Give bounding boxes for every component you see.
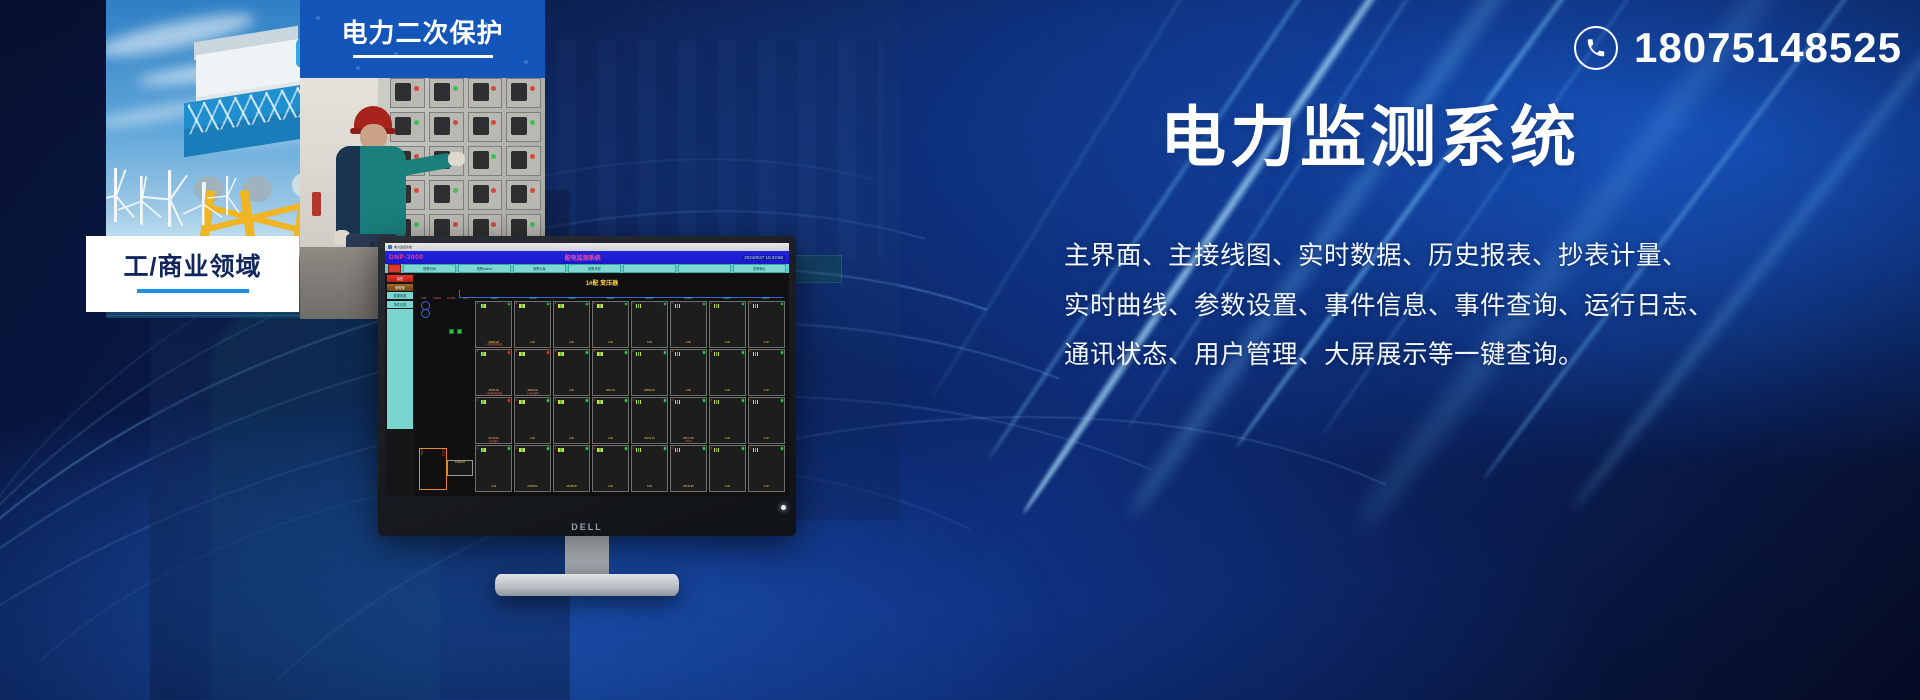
feeder-cell[interactable]: 20.00 — [670, 349, 707, 396]
status-led — [508, 351, 510, 353]
diagram-measurement-panel: P0.0 Q0.0 U0.0 I0.0 — [419, 448, 447, 490]
monitor-brand-logo: DELL — [378, 522, 796, 532]
card-white-underline — [137, 289, 249, 293]
single-line-diagram: TM1 AA101 AC101 — [417, 299, 473, 492]
feeder-cell[interactable]: 40.00 — [709, 445, 746, 492]
feeder-cell-index: 1 — [672, 302, 673, 305]
feeder-cell-value: 28500.46 — [633, 389, 666, 392]
scada-window-title: 电力监控系统 — [394, 245, 412, 249]
card-white-label: 工/商业领域 — [124, 255, 262, 280]
scada-timestamp: 2024/8/27 10:43:56 — [742, 255, 785, 260]
feeder-cell-index: 1 — [555, 302, 556, 305]
phase-bars — [481, 400, 486, 404]
scada-body: 高压 配电室 数据报表 事件记录 1#配 变压器 — [385, 273, 789, 496]
page-title: 电力监测系统 — [1160, 104, 1580, 170]
phase-bars — [636, 448, 641, 452]
feeder-cell-value: 0.00 — [750, 437, 783, 440]
feeder-cell-value: 26738.92 — [555, 485, 588, 488]
feeder-cell[interactable]: 10.00 — [670, 301, 707, 348]
feeder-cell[interactable]: 10.00 — [592, 301, 629, 348]
feeder-cell-index: 4 — [633, 447, 634, 450]
feeder-cell-index: 4 — [594, 447, 595, 450]
status-led — [742, 351, 744, 353]
status-led — [664, 351, 666, 353]
feeder-cell-index: 3 — [555, 399, 556, 402]
status-led — [742, 447, 744, 449]
scada-sidebar[interactable]: 高压 配电室 数据报表 事件记录 — [385, 273, 415, 496]
app-icon — [388, 245, 392, 249]
toolbar-item-blank-1[interactable] — [623, 264, 676, 273]
feeder-cell-value: 0.00 — [672, 341, 705, 344]
status-led — [625, 399, 627, 401]
feeder-cell-index: 2 — [633, 350, 634, 353]
feeder-column-header: AA204 — [708, 297, 747, 300]
phase-bars — [597, 400, 602, 404]
feeder-cell-index: 3 — [710, 399, 711, 402]
feeder-label-ac101: AC101 — [447, 296, 456, 300]
phase-bars — [597, 352, 602, 356]
feeder-cell[interactable]: 427538.10 — [514, 445, 551, 492]
scada-brand: DNP-3000 — [389, 254, 423, 261]
feeder-cell-value: 2607.20 — [594, 389, 627, 392]
phase-bars — [675, 400, 680, 404]
feeder-cell-index: 1 — [749, 302, 750, 305]
feeder-column-header: AA103 — [553, 297, 592, 300]
phase-bars — [481, 448, 486, 452]
description-line-1: 主界面、主接线图、实时数据、历史报表、抄表计量、 — [1064, 240, 1920, 273]
feeder-cell-index: 1 — [477, 302, 478, 305]
phase-bars — [636, 352, 641, 356]
feeder-cell-index: 2 — [672, 350, 673, 353]
feeder-cell-note: 小电流接地 — [516, 391, 549, 395]
phase-bars — [675, 304, 680, 308]
feeder-cell-index: 2 — [477, 350, 478, 353]
feeder-cell-index: 3 — [672, 399, 673, 402]
feeder-cell-value: 0.00 — [594, 437, 627, 440]
feeder-cell-value: 0.00 — [555, 389, 588, 392]
scada-toolbar[interactable]: 报警时间 报警station 报警对象 报警类型 报警确认 — [385, 264, 789, 273]
fire-extinguisher-icon — [312, 192, 321, 216]
sidebar-filler — [387, 309, 413, 429]
feeder-cell[interactable]: 30.00 — [592, 397, 629, 444]
feeder-cell-index: 2 — [516, 350, 517, 353]
feeder-cell-index: 2 — [749, 350, 750, 353]
phase-bars — [597, 448, 602, 452]
status-led — [586, 351, 588, 353]
phase-bars — [519, 352, 524, 356]
phase-bars — [558, 304, 563, 308]
diagram-title: 1#配 变压器 — [417, 278, 787, 287]
feeder-cell-value: 0.00 — [750, 341, 783, 344]
status-led — [742, 303, 744, 305]
status-led — [664, 447, 666, 449]
feeder-cell-index: 3 — [633, 399, 634, 402]
feeder-cell[interactable]: 30.00 — [553, 397, 590, 444]
status-led — [508, 303, 510, 305]
status-led — [664, 303, 666, 305]
feeder-cell-note: 小电流接地选线 — [477, 342, 510, 346]
phase-bars — [519, 304, 524, 308]
feeder-cell-index: 1 — [633, 302, 634, 305]
feeder-cell[interactable]: 40.00 — [631, 445, 668, 492]
phase-bars — [714, 304, 719, 308]
feeder-cell[interactable]: 232962.40小电流接地 — [514, 349, 551, 396]
status-led — [664, 399, 666, 401]
phase-bars — [481, 352, 486, 356]
feeder-cell-value: 0.00 — [750, 389, 783, 392]
feeder-cell-value: 0.00 — [555, 341, 588, 344]
phone-number: 18075148525 — [1634, 27, 1902, 69]
feeder-cell[interactable]: 326271.41 — [631, 397, 668, 444]
feeder-cell-value: 25739.85 — [672, 485, 705, 488]
phase-bars — [558, 448, 563, 452]
phase-bars — [675, 352, 680, 356]
feeder-cell[interactable]: 235763.26小电流接地选线 — [475, 349, 512, 396]
monitor-screen[interactable]: 电力监控系统 DNP-3000 配电监测系统 2024/8/27 10:43:5… — [385, 243, 789, 496]
feeder-cell[interactable]: 228500.46 — [631, 349, 668, 396]
monitor-stand-neck — [565, 534, 609, 578]
feeder-cell-value: 0.00 — [516, 341, 549, 344]
card-power-secondary-protection[interactable]: 电力二次保护 — [300, 0, 545, 78]
toolbar-item-alarm-object[interactable]: 报警对象 — [513, 264, 566, 273]
feature-description: 主界面、主接线图、实时数据、历史报表、抄表计量、 实时曲线、参数设置、事件信息、… — [1064, 240, 1920, 389]
status-led — [508, 447, 510, 449]
card-industrial-commercial[interactable]: 工/商业领域 — [86, 236, 299, 312]
feeder-column-header: AA104 — [591, 297, 630, 300]
sidebar-item-data-report[interactable]: 数据报表 — [387, 292, 413, 299]
feeder-cell-value: 27538.10 — [516, 485, 549, 488]
feeder-cell-value: 0.00 — [633, 485, 666, 488]
feeder-cell[interactable]: 40.00 — [475, 445, 512, 492]
feeder-cell-index: 2 — [710, 350, 711, 353]
feeder-label-aa101: AA101 — [433, 296, 441, 300]
feeder-cell[interactable]: 327179.61过流保护 — [475, 397, 512, 444]
scada-system-name: 配电监测系统 — [565, 253, 601, 262]
feeder-cell[interactable]: 30.00 — [709, 397, 746, 444]
phase-bars — [519, 400, 524, 404]
alarm-stop-button[interactable] — [388, 264, 401, 273]
sidebar-item-distribution-room[interactable]: 配电室 — [387, 284, 413, 291]
sidebar-item-high-voltage[interactable]: 高压 — [387, 275, 413, 282]
status-led — [703, 447, 705, 449]
feeder-cell-index: 4 — [555, 447, 556, 450]
feeder-cell[interactable]: 30.00 — [514, 397, 551, 444]
scada-application: 电力监控系统 DNP-3000 配电监测系统 2024/8/27 10:43:5… — [385, 243, 789, 496]
description-line-3: 通讯状态、用户管理、大屏展示等一键查询。 — [1064, 339, 1920, 372]
status-led — [781, 399, 783, 401]
feeder-cell[interactable]: 425739.85 — [670, 445, 707, 492]
status-led — [586, 303, 588, 305]
feeder-cell-value: 0.00 — [477, 485, 510, 488]
toolbar-item-blank-2[interactable] — [678, 264, 731, 273]
feeder-label-tm1: TM1 — [421, 296, 427, 300]
status-led — [781, 351, 783, 353]
feeder-cell-index: 1 — [710, 302, 711, 305]
feeder-cell[interactable]: 10.00 — [748, 301, 785, 348]
status-led — [547, 303, 549, 305]
feeder-cell[interactable]: 40.00 — [748, 445, 785, 492]
phase-bars — [675, 448, 680, 452]
feeder-cell[interactable]: 326771.55218.8 — [670, 397, 707, 444]
feeder-column-header: AA101 — [475, 297, 514, 300]
feeder-cell-index: 3 — [477, 399, 478, 402]
feeder-cell[interactable]: 20.00 — [553, 349, 590, 396]
feeder-cell[interactable]: 30.00 — [748, 397, 785, 444]
toolbar-item-alarm-ack[interactable]: 报警确认 — [733, 264, 786, 273]
status-led — [508, 399, 510, 401]
phase-bars — [558, 352, 563, 356]
monitor-mockup: 电力监控系统 DNP-3000 配电监测系统 2024/8/27 10:43:5… — [378, 236, 796, 536]
phase-bars — [753, 448, 758, 452]
status-led — [703, 351, 705, 353]
phase-bars — [714, 448, 719, 452]
feeder-cell-note: 218.8 — [672, 440, 705, 443]
feeder-cell-index: 1 — [594, 302, 595, 305]
feeder-cell-value: 0.00 — [750, 485, 783, 488]
sidebar-item-event-log[interactable]: 事件记录 — [387, 301, 413, 308]
monitor-bezel: 电力监控系统 DNP-3000 配电监测系统 2024/8/27 10:43:5… — [378, 236, 796, 536]
status-led — [625, 303, 627, 305]
phone-icon — [1574, 26, 1618, 70]
phase-bars — [481, 304, 486, 308]
feeder-cell-value: 0.00 — [555, 437, 588, 440]
feeder-cell-index: 3 — [594, 399, 595, 402]
feeder-cell-note: 小电流接地选线 — [477, 391, 510, 395]
feeder-cell-index: 4 — [749, 447, 750, 450]
diagram-meter-box: 12620.91 — [447, 460, 473, 476]
description-line-2: 实时曲线、参数设置、事件信息、事件查询、运行日志、 — [1064, 290, 1920, 323]
phase-bars — [519, 448, 524, 452]
feeder-cell-value: 0.00 — [672, 389, 705, 392]
feeder-cell-index: 3 — [749, 399, 750, 402]
feeder-cell[interactable]: 10.00 — [631, 301, 668, 348]
photo-collage: 电力二次保护 工/商业领域 电力监控系统 D — [0, 0, 980, 700]
scada-window-titlebar: 电力监控系统 — [385, 243, 789, 251]
feeder-cell-index: 1 — [516, 302, 517, 305]
feeder-column-header: AA102 — [514, 297, 553, 300]
phase-bars — [753, 352, 758, 356]
right-content: 18075148525 电力监测系统 主界面、主接线图、实时数据、历史报表、抄表… — [1060, 0, 1920, 700]
status-led — [586, 399, 588, 401]
feeder-cell-value: 0.00 — [711, 437, 744, 440]
feeder-cell[interactable]: 10.00 — [709, 301, 746, 348]
feeder-cell[interactable]: 152586.48小电流接地选线 — [475, 301, 512, 348]
feeder-cell[interactable]: 20.00 — [709, 349, 746, 396]
feeder-cell[interactable]: 426738.92 — [553, 445, 590, 492]
phase-bars — [753, 304, 758, 308]
feeder-cell-value: 0.00 — [594, 485, 627, 488]
feeder-cell-index: 3 — [516, 399, 517, 402]
feeder-cell[interactable]: 10.00 — [514, 301, 551, 348]
phase-bars — [636, 304, 641, 308]
feeder-cell-value: 0.00 — [711, 389, 744, 392]
feeder-column-header: AA203 — [669, 297, 708, 300]
phase-bars — [636, 400, 641, 404]
status-led — [781, 447, 783, 449]
status-led — [547, 351, 549, 353]
feeder-cell-index: 2 — [594, 350, 595, 353]
status-led — [625, 351, 627, 353]
scada-diagram-area: 1#配 变压器 TM1 AA101 — [415, 273, 789, 496]
phase-bars — [558, 400, 563, 404]
contact-phone[interactable]: 18075148525 — [1574, 26, 1902, 70]
feeder-cell-index: 4 — [672, 447, 673, 450]
toolbar-item-alarm-type[interactable]: 报警类型 — [568, 264, 621, 273]
status-led — [781, 303, 783, 305]
feeder-cell-grid[interactable]: AA101AA102AA103AA104AA105AA203AA204AA205… — [475, 301, 785, 492]
monitor-stand-base — [495, 574, 679, 596]
feeder-cell-note: 过流保护 — [477, 439, 510, 443]
feeder-column-header: AA205 — [746, 297, 785, 300]
feeder-label-aa1: AA1 — [463, 296, 468, 300]
feeder-cell-index: 4 — [516, 447, 517, 450]
phase-bars — [597, 304, 602, 308]
feeder-cell-index: 4 — [477, 447, 478, 450]
status-led — [586, 447, 588, 449]
status-led — [547, 447, 549, 449]
feeder-cell[interactable]: 20.00 — [748, 349, 785, 396]
toolbar-item-alarm-time[interactable]: 报警时间 — [403, 264, 456, 273]
toolbar-item-alarm-station[interactable]: 报警station — [458, 264, 511, 273]
status-led — [547, 399, 549, 401]
feeder-cell[interactable]: 10.00 — [553, 301, 590, 348]
feeder-cell-index: 4 — [710, 447, 711, 450]
feeder-cell-value: 0.00 — [711, 341, 744, 344]
monitor-power-led[interactable] — [781, 505, 786, 510]
feeder-cell-value: 0.00 — [711, 485, 744, 488]
promo-banner: 电力二次保护 工/商业领域 电力监控系统 D — [0, 0, 1920, 700]
status-led — [625, 447, 627, 449]
status-led — [703, 303, 705, 305]
feeder-cell-value: 0.00 — [516, 437, 549, 440]
feeder-cell-value: 26271.41 — [633, 437, 666, 440]
feeder-cell-value: 0.00 — [594, 341, 627, 344]
feeder-column-header: AA105 — [630, 297, 669, 300]
scada-header-band: DNP-3000 配电监测系统 2024/8/27 10:43:56 — [385, 251, 789, 264]
feeder-cell[interactable]: 22607.20 — [592, 349, 629, 396]
status-led — [742, 399, 744, 401]
phase-bars — [753, 400, 758, 404]
feeder-cell[interactable]: 40.00 — [592, 445, 629, 492]
feeder-cell-value: 0.00 — [633, 341, 666, 344]
feeder-cell-index: 2 — [555, 350, 556, 353]
phase-bars — [714, 400, 719, 404]
phase-bars — [714, 352, 719, 356]
status-led — [703, 399, 705, 401]
